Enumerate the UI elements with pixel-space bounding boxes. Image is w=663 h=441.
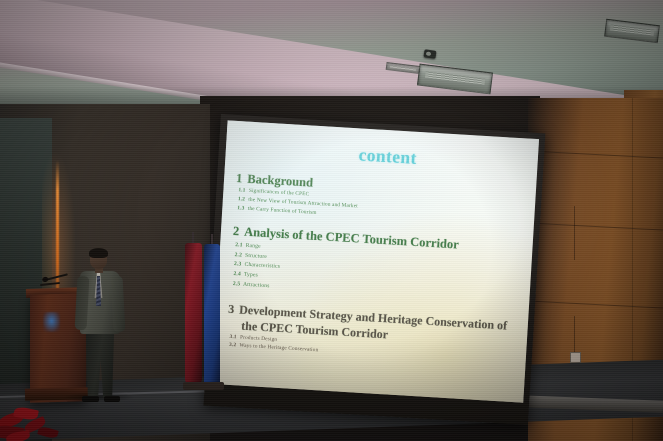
slide-title: content <box>251 138 524 175</box>
section-1-title: Background <box>247 172 313 190</box>
flower-petal <box>37 425 59 439</box>
ceiling-camera <box>424 49 437 59</box>
projected-slide: content 1Background 1.1 Significances of… <box>212 120 539 402</box>
projection-screen: content 1Background 1.1 Significances of… <box>203 114 545 425</box>
presenter-shoe <box>104 396 120 402</box>
slide-section-3: 3Development Strategy and Heritage Conse… <box>226 302 514 367</box>
item-number: 2.1 <box>235 241 245 251</box>
item-text: Types <box>244 272 258 279</box>
wood-panel-seam <box>528 150 663 158</box>
presenter <box>74 250 130 402</box>
presenter-shoe <box>82 396 99 402</box>
item-number: 2.4 <box>233 270 243 280</box>
item-number: 2.3 <box>234 261 244 271</box>
item-number: 3.1 <box>229 333 238 341</box>
slide-section-2: 2Analysis of the CPEC Tourism Corridor 2… <box>229 224 518 307</box>
flag-stand <box>202 382 224 390</box>
wood-panel-seam <box>528 222 663 230</box>
item-number: 3.2 <box>229 342 238 350</box>
item-number: 2.5 <box>232 280 242 290</box>
presenter-hair <box>89 248 108 258</box>
wood-panel-seam <box>574 206 575 260</box>
item-text: Attractions <box>243 282 270 290</box>
item-number: 1.3 <box>237 205 246 213</box>
item-number: 2.2 <box>234 251 244 261</box>
section-2-number: 2 <box>233 224 240 238</box>
presentation-photo: content 1Background 1.1 Significances of… <box>0 0 663 441</box>
blue-flag <box>204 244 220 388</box>
podium-emblem <box>43 312 60 332</box>
section-1-number: 1 <box>236 171 243 185</box>
slide-section-1: 1Background 1.1 Significances of the CPE… <box>234 171 522 230</box>
item-number: 1.1 <box>238 187 247 195</box>
item-text: Structure <box>245 252 267 259</box>
item-text: Products Design <box>240 334 277 342</box>
section-3-number: 3 <box>228 302 235 316</box>
presenter-right-arm <box>111 276 126 333</box>
item-number: 1.2 <box>238 196 247 204</box>
red-flag <box>185 243 202 385</box>
presenter-legs <box>84 332 116 398</box>
item-text: Range <box>246 242 261 249</box>
item-text: Characteristics <box>244 262 280 270</box>
poinsettia-plant <box>0 404 80 441</box>
slide-content: content 1Background 1.1 Significances of… <box>212 120 539 402</box>
wood-panel-seam <box>528 300 663 308</box>
wall-outlet <box>570 352 581 363</box>
